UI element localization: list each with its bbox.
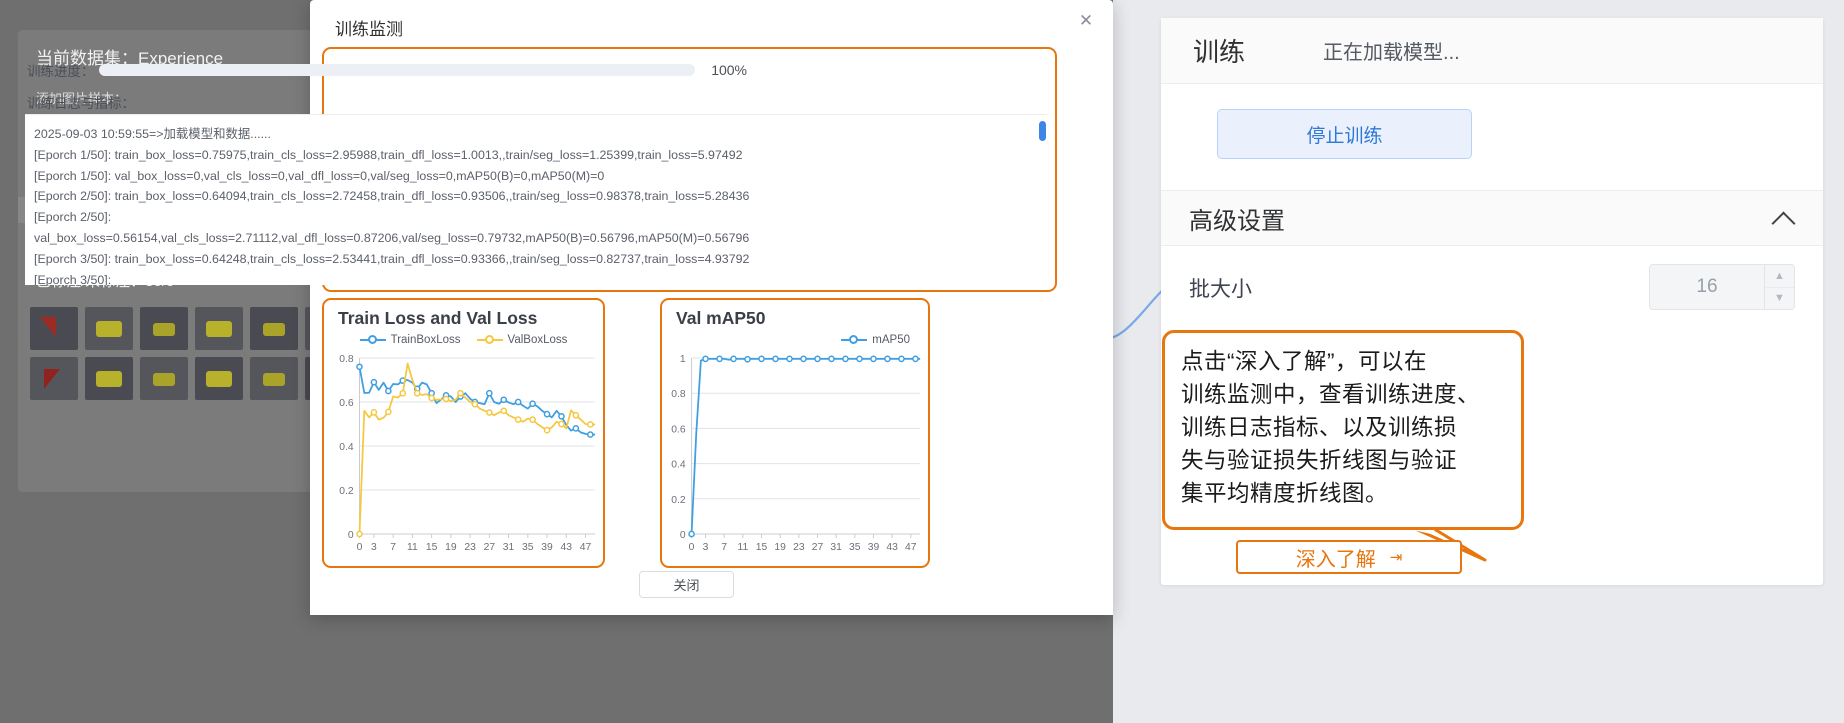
progress-bar (99, 64, 696, 76)
close-button[interactable]: 关闭 (639, 571, 734, 598)
close-button-label: 关闭 (673, 575, 699, 594)
log-line: val_box_loss=0.56154,val_cls_loss=2.7111… (34, 228, 1044, 249)
legend-marker-yellow (477, 335, 503, 346)
chart-legend: TrainBoxLoss ValBoxLoss (324, 334, 603, 346)
chart-plot-area: 00.20.40.60.8103711151923273135394347 (662, 350, 928, 568)
legend-item-map50[interactable]: mAP50 (841, 334, 910, 346)
callout-line-3: 训练日志指标、以及训练损 (1181, 411, 1505, 444)
train-val-loss-chart: Train Loss and Val Loss TrainBoxLoss Val… (322, 298, 605, 568)
svg-text:11: 11 (737, 542, 748, 553)
svg-text:47: 47 (580, 542, 592, 553)
legend-label: TrainBoxLoss (391, 334, 461, 346)
log-line: [Eporch 2/50]: (34, 207, 1044, 228)
training-panel-header: 训练 正在加载模型... (1161, 18, 1823, 84)
callout-line-4: 失与验证损失折线图与验证 (1181, 444, 1505, 477)
log-line: [Eporch 3/50]: train_box_loss=0.64248,tr… (34, 249, 1044, 270)
svg-text:43: 43 (886, 542, 898, 553)
stop-training-button[interactable]: 停止训练 (1217, 109, 1472, 159)
svg-text:0.8: 0.8 (339, 354, 354, 365)
callout-box: 点击“深入了解”，可以在 训练监测中，查看训练进度、 训练日志指标、以及训练损 … (1162, 330, 1524, 530)
callout-line-5: 集平均精度折线图。 (1181, 477, 1505, 510)
progress-percent: 100% (703, 62, 747, 78)
caret-up-icon[interactable]: ▲ (1765, 265, 1794, 287)
svg-text:0: 0 (680, 530, 686, 541)
svg-text:23: 23 (793, 542, 805, 553)
chart-legend: mAP50 (662, 334, 928, 346)
svg-text:0.6: 0.6 (671, 424, 686, 435)
batch-size-label: 批大小 (1189, 273, 1252, 303)
log-scrollbar-thumb[interactable] (1039, 121, 1046, 141)
svg-text:15: 15 (756, 542, 768, 553)
svg-text:0.2: 0.2 (671, 495, 686, 506)
progress-row: 训练进度： 100% (27, 58, 747, 82)
log-line: [Eporch 1/50]: train_box_loss=0.75975,tr… (34, 145, 1044, 166)
training-status-text: 正在加载模型... (1323, 36, 1460, 65)
svg-text:0: 0 (348, 530, 354, 541)
svg-text:35: 35 (849, 542, 861, 553)
svg-text:11: 11 (407, 542, 418, 553)
log-panel[interactable]: 2025-09-03 10:59:55=>加载模型和数据......[Eporc… (25, 115, 1047, 285)
legend-item-trainboxloss[interactable]: TrainBoxLoss (360, 334, 461, 346)
log-line: [Eporch 1/50]: val_box_loss=0,val_cls_lo… (34, 166, 1044, 187)
legend-label: mAP50 (872, 334, 910, 346)
svg-text:3: 3 (371, 542, 377, 553)
thumbnail-item[interactable] (250, 357, 298, 400)
chevron-up-icon[interactable] (1773, 207, 1795, 229)
svg-text:0.4: 0.4 (671, 460, 686, 471)
svg-text:0: 0 (689, 542, 695, 553)
svg-text:19: 19 (774, 542, 786, 553)
svg-text:27: 27 (484, 542, 496, 553)
svg-text:39: 39 (868, 542, 880, 553)
training-panel-title: 训练 (1193, 32, 1245, 69)
close-icon[interactable]: ✕ (1075, 10, 1097, 32)
svg-text:31: 31 (830, 542, 842, 553)
log-line: [Eporch 2/50]: train_box_loss=0.64094,tr… (34, 186, 1044, 207)
log-line: 2025-09-03 10:59:55=>加载模型和数据...... (34, 124, 1044, 145)
svg-text:31: 31 (503, 542, 515, 553)
thumbnail-item[interactable] (195, 307, 243, 350)
batch-size-stepper[interactable]: 16 ▲ ▼ (1649, 264, 1795, 310)
thumbnail-item[interactable] (195, 357, 243, 400)
thumbnail-item[interactable] (85, 357, 133, 400)
page-gutter (1113, 0, 1161, 723)
svg-text:1: 1 (680, 354, 686, 365)
stop-training-label: 停止训练 (1306, 121, 1382, 148)
thumbnail-item[interactable] (140, 357, 188, 400)
batch-size-value: 16 (1650, 276, 1764, 298)
stepper-arrows[interactable]: ▲ ▼ (1764, 265, 1794, 309)
learn-more-label: 深入了解 (1296, 543, 1376, 572)
svg-text:23: 23 (464, 542, 476, 553)
svg-text:47: 47 (905, 542, 917, 553)
advanced-settings-row[interactable]: 高级设置 (1161, 190, 1823, 246)
svg-text:0.8: 0.8 (671, 389, 686, 400)
chart-title: Train Loss and Val Loss (338, 308, 537, 329)
thumbnail-item[interactable] (140, 307, 188, 350)
arrow-right-icon: ⇥ (1390, 548, 1403, 566)
thumbnail-item[interactable] (250, 307, 298, 350)
modal-title: 训练监测 (335, 15, 403, 40)
thumbnail-item[interactable] (85, 307, 133, 350)
svg-text:3: 3 (703, 542, 709, 553)
svg-text:19: 19 (445, 542, 457, 553)
svg-text:27: 27 (812, 542, 824, 553)
callout-line-1: 点击“深入了解”，可以在 (1181, 345, 1505, 378)
learn-more-button[interactable]: 深入了解 ⇥ (1236, 540, 1462, 574)
log-label: 训练日志与指标： (27, 92, 135, 112)
thumbnail-item[interactable] (30, 357, 78, 400)
svg-text:39: 39 (541, 542, 553, 553)
log-line: [Eporch 3/50]: (34, 270, 1044, 285)
progress-label: 训练进度： (27, 60, 95, 80)
svg-text:0.6: 0.6 (339, 398, 354, 409)
legend-marker-blue (360, 335, 386, 346)
chart-plot-area: 00.20.40.60.803711151923273135394347 (324, 350, 603, 568)
svg-text:0: 0 (357, 542, 363, 553)
val-map50-chart: Val mAP50 mAP50 00.20.40.60.810371115192… (660, 298, 930, 568)
svg-text:0.2: 0.2 (339, 486, 354, 497)
caret-down-icon[interactable]: ▼ (1765, 287, 1794, 310)
svg-text:35: 35 (522, 542, 534, 553)
legend-item-valboxloss[interactable]: ValBoxLoss (477, 334, 568, 346)
svg-text:0.4: 0.4 (339, 442, 354, 453)
svg-text:7: 7 (721, 542, 727, 553)
chart-title: Val mAP50 (676, 308, 766, 329)
thumbnail-item[interactable] (30, 307, 78, 350)
log-content: 2025-09-03 10:59:55=>加载模型和数据......[Eporc… (34, 124, 1044, 285)
advanced-settings-label: 高级设置 (1189, 201, 1285, 236)
legend-marker-blue (841, 335, 867, 346)
svg-text:15: 15 (426, 542, 438, 553)
legend-label: ValBoxLoss (508, 334, 568, 346)
callout-line-2: 训练监测中，查看训练进度、 (1181, 378, 1505, 411)
svg-text:7: 7 (390, 542, 396, 553)
svg-text:43: 43 (561, 542, 573, 553)
